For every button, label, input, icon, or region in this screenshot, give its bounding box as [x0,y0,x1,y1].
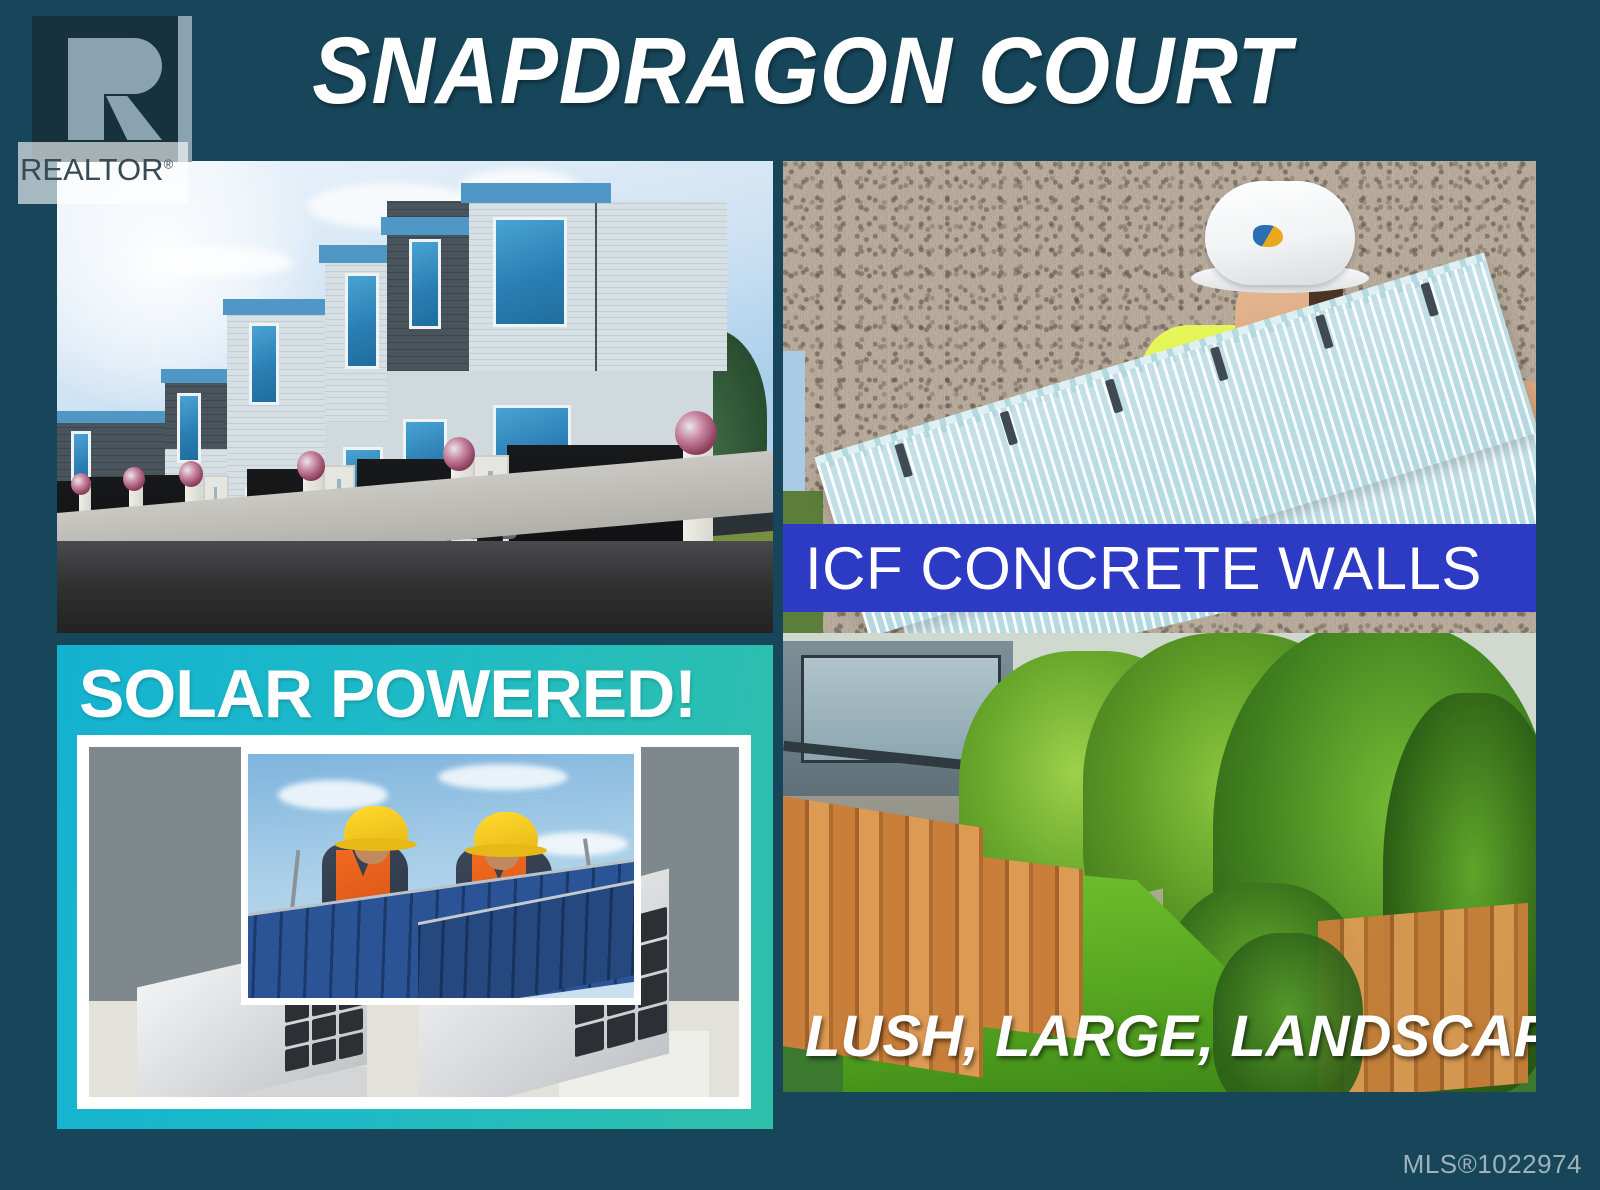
icf-caption-text: ICF CONCRETE WALLS [783,534,1482,603]
cloud [438,764,568,790]
window [345,273,379,369]
realtor-wordmark: REALTOR® [20,152,188,188]
mls-number: MLS®1022974 [1403,1149,1582,1180]
flower-basket [443,437,475,471]
flower-basket [123,467,145,491]
roof-trim [57,411,169,423]
page-title: SNAPDRAGON COURT [268,6,1335,136]
icf-caption-banner: ICF CONCRETE WALLS [783,524,1536,612]
realtor-logo: REALTOR® [18,16,188,212]
roof-trim [223,299,333,315]
flower-basket [179,461,203,487]
registered-mark: ® [164,157,174,172]
solar-title: SOLAR POWERED! [79,655,696,733]
cloud [153,247,293,277]
solar-feature-panel: SOLAR POWERED! [57,645,773,1129]
realtor-mark-edge [178,16,192,162]
realtor-wordmark-text: REALTOR [20,152,164,187]
townhouse-exterior-photo [57,161,773,633]
window [409,239,441,329]
backyard-landscape-photo: LUSH, LARGE, LANDSCAPE [783,633,1536,1092]
window [493,217,567,327]
window [249,323,279,405]
solar-cell [638,971,667,1008]
realtor-r-mark [32,16,178,162]
solar-cell [339,1007,363,1034]
shingle-band [597,201,727,371]
roof-trim [161,369,235,383]
solar-render-scene [89,747,739,1097]
realtor-r-stem [68,38,104,140]
solar-cell [312,1014,336,1041]
landscape-caption: LUSH, LARGE, LANDSCAPE [805,1003,1536,1070]
flower-basket [675,411,717,455]
solar-cell [285,1020,309,1047]
sky-sliver [783,351,805,501]
solar-cell [638,907,667,944]
solar-card [77,735,751,1109]
solar-install-photo [241,747,641,1005]
roof-trim [461,183,611,203]
realtor-r-leg [106,96,162,140]
window [177,393,201,463]
roof-trim [381,217,469,235]
header-bar: SNAPDRAGON COURT [0,0,1600,158]
flower-basket [71,473,91,495]
listing-flyer: SNAPDRAGON COURT REALTOR® [0,0,1600,1190]
asphalt-driveway [57,541,773,633]
yellow-hard-hat [474,812,538,854]
realtor-r-bowl [104,38,162,94]
hard-hat-logo [1253,225,1283,247]
solar-cell [638,939,667,976]
flower-basket [297,451,325,481]
yellow-hard-hat [344,806,408,848]
